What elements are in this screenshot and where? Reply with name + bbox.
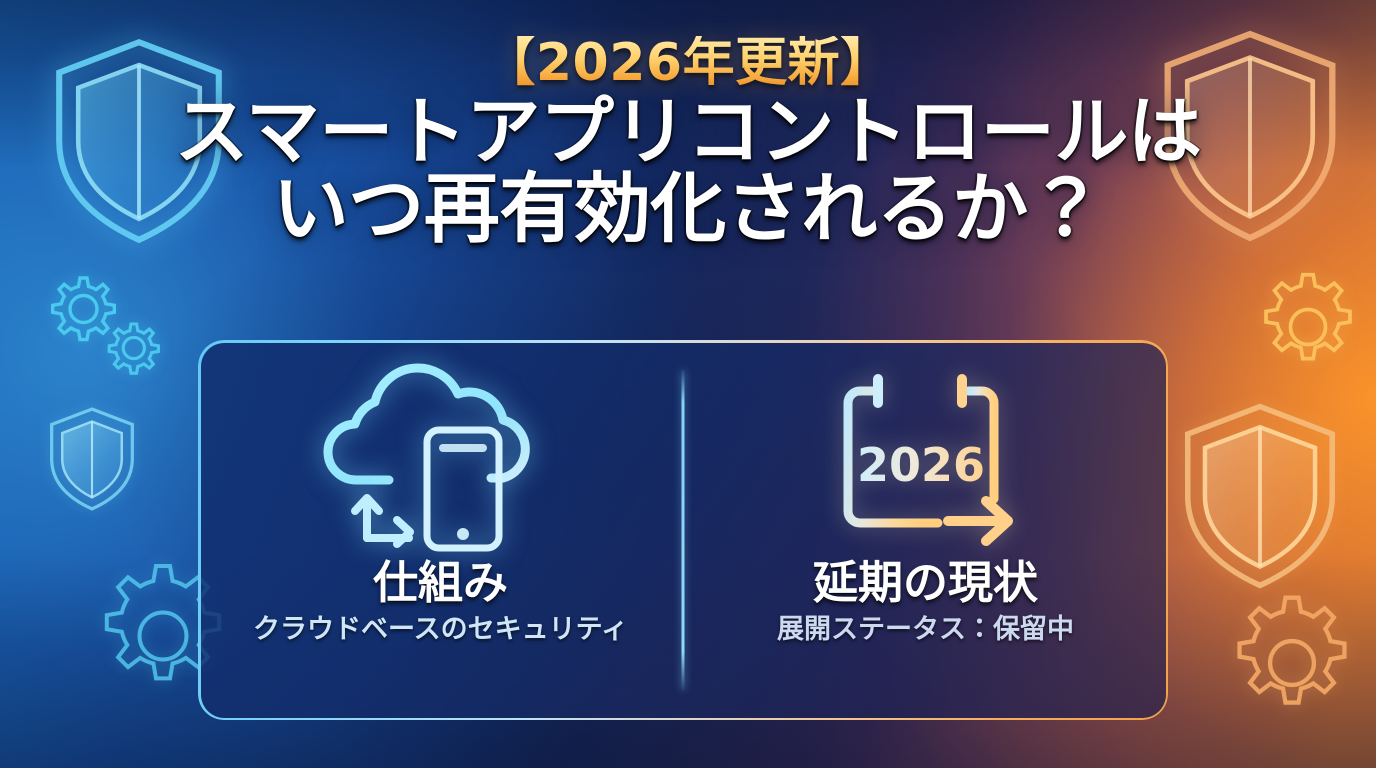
info-panel-content: 仕組み クラウドベースのセキュリティ (198, 340, 1168, 720)
title-block: 【2026年更新】 スマートアプリコントロールは いつ再有効化されるか？ (0, 36, 1376, 250)
panel-column-mechanism: 仕組み クラウドベースのセキュリティ (198, 340, 683, 720)
card-subtitle-mechanism: クラウドベースのセキュリティ (253, 614, 628, 645)
thumbnail-canvas: 【2026年更新】 スマートアプリコントロールは いつ再有効化されるか？ (0, 0, 1376, 768)
calendar-2026-arrow-icon: 2026 (820, 366, 1032, 552)
panel-column-status: 2026 延期の現状 展開ステータス：保留中 (683, 340, 1168, 720)
cloud-phone-sync-icon (325, 366, 557, 552)
calendar-year-label: 2026 (856, 438, 984, 492)
panel-divider (682, 370, 685, 690)
card-title-status: 延期の現状 (813, 558, 1038, 608)
page-title-line-1: スマートアプリコントロールは (0, 93, 1376, 172)
page-title-line-2: いつ再有効化されるか？ (0, 168, 1376, 249)
update-year-badge: 【2026年更新】 (0, 36, 1376, 91)
card-subtitle-status: 展開ステータス：保留中 (777, 614, 1074, 645)
card-title-mechanism: 仕組み (373, 558, 508, 608)
